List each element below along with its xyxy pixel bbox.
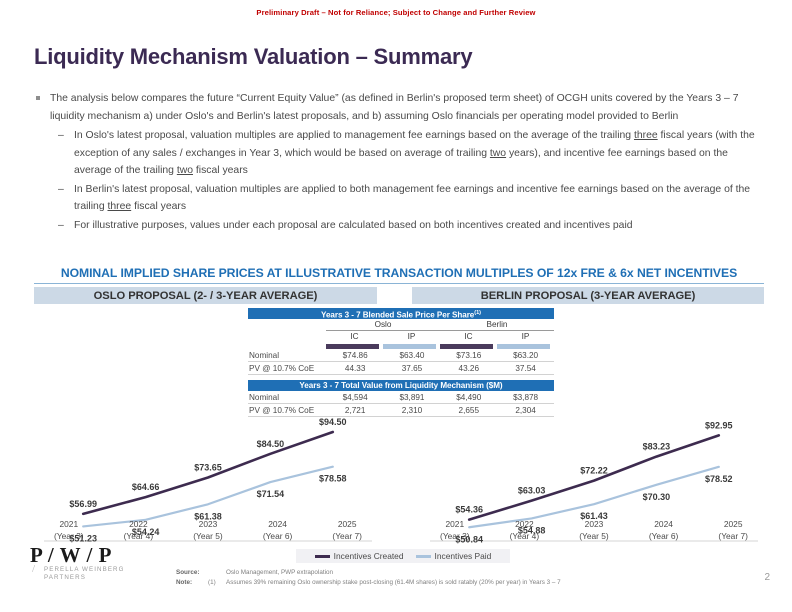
note-key: Note: [176, 578, 208, 588]
row-label-nominal: Nominal [248, 351, 327, 360]
cell-value: 37.54 [497, 364, 554, 373]
section-title: NOMINAL IMPLIED SHARE PRICES AT ILLUSTRA… [34, 266, 764, 280]
logo-line1: PERELLA WEINBERG [44, 566, 125, 573]
table-color-key-row [248, 344, 554, 349]
row-label-nominal: Nominal [248, 393, 327, 402]
legend-item-incentives-created: Incentives Created [315, 551, 404, 561]
cell-value: $3,878 [497, 393, 554, 402]
cell-value: 37.65 [384, 364, 441, 373]
table-corner-spacer [248, 344, 326, 349]
x-tick-label: 2025(Year 7) [698, 519, 768, 545]
subheader-berlin-ip: IP [497, 332, 554, 343]
bullet-main-text: The analysis below compares the future “… [50, 93, 739, 122]
x-tick-label: 2023(Year 5) [559, 519, 629, 545]
data-label: $94.50 [319, 417, 347, 427]
x-tick-label: 2023(Year 5) [173, 519, 243, 545]
tick-year-sub: (Year 6) [649, 531, 678, 541]
bullet-sub-2: – In Berlin's latest proposal, valuation… [56, 181, 764, 216]
data-label: $63.03 [518, 486, 546, 496]
tick-year-sub: (Year 5) [579, 531, 608, 541]
note-number: (1) [208, 578, 226, 588]
tick-year-sub: (Year 4) [510, 531, 539, 541]
bullet-list: The analysis below compares the future “… [34, 90, 764, 234]
table-banner-blended-price: Years 3 - 7 Blended Sale Price Per Share… [248, 308, 554, 319]
banner1-footnote-marker: (1) [474, 310, 481, 316]
summary-table: Years 3 - 7 Blended Sale Price Per Share… [248, 308, 554, 417]
x-axis-labels-oslo: 2021(Year 3)2022(Year 4)2023(Year 5)2024… [34, 519, 382, 545]
section-divider [34, 283, 764, 284]
source-num-spacer [208, 568, 226, 578]
table-corner-spacer [248, 320, 326, 331]
cell-value: $3,891 [384, 393, 441, 402]
bullet-sub-3: – For illustrative purposes, values unde… [56, 217, 764, 235]
cell-value: $73.16 [440, 351, 497, 360]
x-tick-label: 2022(Year 4) [490, 519, 560, 545]
subheader-oslo-ip: IP [383, 332, 440, 343]
tick-year-sub: (Year 5) [193, 531, 222, 541]
data-label: $83.23 [643, 442, 671, 452]
table-corner-spacer [248, 332, 326, 343]
bullet-sub-1: – In Oslo's latest proposal, valuation m… [56, 127, 764, 180]
dash-bullet-icon: – [58, 181, 64, 199]
cell-value: $63.40 [384, 351, 441, 360]
legend-swatch-icon [315, 555, 330, 558]
tick-year-sub: (Year 4) [124, 531, 153, 541]
cell-value: $74.86 [327, 351, 384, 360]
tick-year-sub: (Year 3) [440, 531, 469, 541]
table-banner-total-value: Years 3 - 7 Total Value from Liquidity M… [248, 380, 554, 391]
pwp-logo: P / W / P / PERELLA WEINBERG PARTNERS [30, 544, 125, 582]
data-label: $73.65 [194, 462, 222, 472]
page-number: 2 [764, 572, 770, 583]
sub3-part1: For illustrative purposes, values under … [74, 220, 633, 231]
cell-value: $4,490 [440, 393, 497, 402]
color-swatch-berlin-ic [440, 344, 493, 349]
draft-notice: Preliminary Draft – Not for Reliance; Su… [0, 8, 792, 17]
sub1-underline3: two [177, 165, 193, 176]
footnote-source: Source: Oslo Management, PWP extrapolati… [176, 568, 561, 578]
row-label-pv: PV @ 10.7% CoE [248, 364, 327, 373]
logo-slash-icon: / [32, 565, 36, 573]
berlin-proposal-header: BERLIN PROPOSAL (3-YEAR AVERAGE) [412, 287, 764, 304]
dash-bullet-icon: – [58, 127, 64, 145]
x-tick-label: 2021(Year 3) [420, 519, 490, 545]
tick-year-sub: (Year 3) [54, 531, 83, 541]
oslo-proposal-header: OSLO PROPOSAL (2- / 3-YEAR AVERAGE) [34, 287, 377, 304]
legend-swatch-icon [416, 555, 431, 558]
bullet-main: The analysis below compares the future “… [34, 90, 764, 125]
tick-year: 2022 [129, 519, 148, 529]
sub1-underline2: two [490, 148, 506, 159]
banner1-text: Years 3 - 7 Blended Sale Price Per Share [321, 311, 474, 320]
data-label: $84.50 [257, 439, 285, 449]
group-header-oslo: Oslo [326, 320, 440, 331]
tick-year: 2025 [724, 519, 743, 529]
legend-label: Incentives Created [334, 551, 404, 561]
tick-year: 2024 [268, 519, 287, 529]
tick-year: 2021 [445, 519, 464, 529]
table-group-header-row: Oslo Berlin [248, 320, 554, 331]
sub2-underline1: three [108, 201, 132, 212]
x-tick-label: 2022(Year 4) [104, 519, 174, 545]
group-header-berlin: Berlin [440, 320, 554, 331]
color-swatch-oslo-ic [326, 344, 379, 349]
dash-bullet-icon: – [58, 217, 64, 235]
data-label: $78.52 [705, 474, 733, 484]
logo-line2: PARTNERS [44, 574, 86, 581]
tick-year: 2024 [654, 519, 673, 529]
x-axis-labels-berlin: 2021(Year 3)2022(Year 4)2023(Year 5)2024… [420, 519, 768, 545]
sub1-part4: fiscal years [193, 165, 248, 176]
x-tick-label: 2024(Year 6) [629, 519, 699, 545]
x-tick-label: 2024(Year 6) [243, 519, 313, 545]
data-label: $78.58 [319, 474, 347, 484]
table-row: Nominal $74.86 $63.40 $73.16 $63.20 [248, 349, 554, 362]
cell-value: 44.33 [327, 364, 384, 373]
page-title: Liquidity Mechanism Valuation – Summary [34, 44, 472, 70]
logo-mark: P / W / P [30, 544, 125, 566]
square-bullet-icon [36, 96, 40, 100]
data-label: $92.95 [705, 420, 733, 430]
subheader-berlin-ic: IC [440, 332, 497, 343]
color-swatch-berlin-ip [497, 344, 550, 349]
table-row: PV @ 10.7% CoE 44.33 37.65 43.26 37.54 [248, 362, 554, 375]
x-tick-label: 2025(Year 7) [312, 519, 382, 545]
footnotes: Source: Oslo Management, PWP extrapolati… [176, 568, 561, 587]
tick-year: 2023 [585, 519, 604, 529]
x-tick-label: 2021(Year 3) [34, 519, 104, 545]
color-swatch-oslo-ip [383, 344, 436, 349]
cell-value: $63.20 [497, 351, 554, 360]
source-key: Source: [176, 568, 208, 578]
source-value: Oslo Management, PWP extrapolation [226, 568, 333, 578]
note-value: Assumes 39% remaining Oslo ownership sta… [226, 578, 561, 588]
tick-year: 2023 [199, 519, 218, 529]
data-label: $70.30 [643, 492, 671, 502]
cell-value: $4,594 [327, 393, 384, 402]
series-line-incentives-created [83, 432, 333, 514]
sub2-part2: fiscal years [131, 201, 186, 212]
tick-year: 2022 [515, 519, 534, 529]
logo-subtext: / PERELLA WEINBERG PARTNERS [30, 566, 125, 582]
subheader-oslo-ic: IC [326, 332, 383, 343]
cell-value: 43.26 [440, 364, 497, 373]
chart-legend: Incentives Created Incentives Paid [296, 549, 510, 563]
data-label: $64.66 [132, 482, 160, 492]
table-subheader-row: IC IP IC IP [248, 332, 554, 343]
data-label: $56.99 [69, 499, 97, 509]
tick-year: 2025 [338, 519, 357, 529]
tick-year-sub: (Year 7) [332, 531, 361, 541]
tick-year-sub: (Year 7) [718, 531, 747, 541]
data-label: $72.22 [580, 466, 608, 476]
sub1-underline1: three [634, 130, 658, 141]
legend-item-incentives-paid: Incentives Paid [416, 551, 492, 561]
sub1-part1: In Oslo's latest proposal, valuation mul… [74, 130, 634, 141]
legend-label: Incentives Paid [435, 551, 492, 561]
data-label: $54.36 [455, 505, 483, 515]
tick-year-sub: (Year 6) [263, 531, 292, 541]
table-row: Nominal $4,594 $3,891 $4,490 $3,878 [248, 391, 554, 404]
tick-year: 2021 [59, 519, 78, 529]
footnote-note: Note: (1) Assumes 39% remaining Oslo own… [176, 578, 561, 588]
data-label: $71.54 [257, 489, 285, 499]
